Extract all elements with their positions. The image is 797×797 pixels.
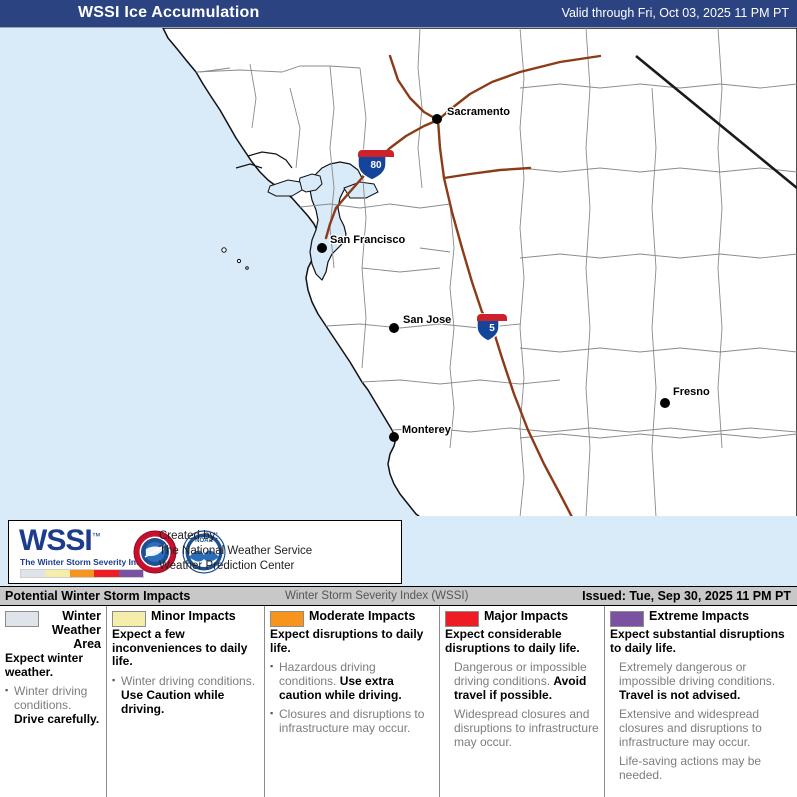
city-label-monterey: Monterey — [402, 424, 452, 436]
legend-lead-major-impacts: Expect considerable disruptions to daily… — [445, 628, 599, 655]
wssi-wordmark: WSSI™ — [19, 524, 100, 558]
map-svg: 80 5 Sacramento San Francisco San Jose M… — [0, 28, 797, 517]
legend-header-minor-impacts: Minor Impacts — [112, 609, 259, 627]
legend-title-major-impacts: Major Impacts — [484, 609, 568, 623]
wssi-wordmark-text: WSSI — [19, 524, 92, 557]
impacts-bar-title: Potential Winter Storm Impacts — [5, 589, 190, 603]
legend-lead-moderate-impacts: Expect disruptions to daily life. — [270, 628, 434, 655]
city-label-fresno: Fresno — [673, 386, 710, 398]
legend-swatch-moderate-impacts — [270, 611, 304, 627]
attribution-box: WSSI™ The Winter Storm Severity Index NO… — [8, 520, 402, 584]
wssi-swatch-0 — [21, 570, 45, 577]
wssi-trademark: ™ — [92, 531, 100, 541]
valid-through-label: Valid through Fri, Oct 03, 2025 11 PM PT — [562, 6, 789, 20]
legend-title-moderate-impacts: Moderate Impacts — [309, 609, 415, 623]
legend-item-major-impacts-0: Dangerous or impossible driving conditio… — [445, 660, 599, 702]
legend-item-moderate-impacts-1: Closures and disruptions to infrastructu… — [270, 707, 434, 735]
city-dot-sacramento — [432, 114, 442, 124]
wssi-severity-swatch-bar — [20, 569, 144, 578]
legend-column-winter-weather-area[interactable]: Winter Weather AreaExpect winter weather… — [0, 606, 107, 797]
legend-lead-winter-weather-area: Expect winter weather. — [5, 652, 101, 679]
legend-lead-extreme-impacts: Expect substantial disruptions to daily … — [610, 628, 792, 655]
legend-header-moderate-impacts: Moderate Impacts — [270, 609, 434, 627]
legend-item-winter-weather-area-0: Winter driving conditions. Drive careful… — [5, 684, 101, 726]
legend-item-emphasis: Use Caution while driving. — [121, 688, 224, 716]
city-label-san-francisco: San Francisco — [330, 234, 405, 246]
created-by-line-3: Weather Prediction Center — [159, 559, 312, 574]
legend-item-minor-impacts-0: Winter driving conditions. Use Caution w… — [112, 674, 259, 716]
legend-item-emphasis: Drive carefully. — [14, 712, 99, 726]
legend-item-emphasis: Avoid travel if possible. — [454, 674, 586, 702]
legend-swatch-winter-weather-area — [5, 611, 39, 627]
legend-column-major-impacts[interactable]: Major ImpactsExpect considerable disrupt… — [440, 606, 605, 797]
legend-column-minor-impacts[interactable]: Minor ImpactsExpect a few inconveniences… — [107, 606, 265, 797]
legend-column-extreme-impacts[interactable]: Extreme ImpactsExpect substantial disrup… — [605, 606, 797, 797]
legend-swatch-minor-impacts — [112, 611, 146, 627]
city-label-sacramento: Sacramento — [447, 106, 510, 118]
impacts-bar: Potential Winter Storm Impacts Winter St… — [0, 586, 797, 606]
legend-item-extreme-impacts-0: Extremely dangerous or impossible drivin… — [610, 660, 792, 702]
legend-header-major-impacts: Major Impacts — [445, 609, 599, 627]
wssi-swatch-3 — [94, 570, 118, 577]
legend-header-extreme-impacts: Extreme Impacts — [610, 609, 792, 627]
wssi-ice-accumulation-page: WSSI Ice Accumulation Valid through Fri,… — [0, 0, 797, 797]
city-dot-monterey — [389, 432, 399, 442]
city-label-san-jose: San Jose — [403, 314, 451, 326]
legend-item-emphasis: Travel is not advised. — [619, 688, 740, 702]
issued-label: Issued: Tue, Sep 30, 2025 11 PM PT — [582, 589, 791, 603]
legend-title-minor-impacts: Minor Impacts — [151, 609, 236, 623]
created-by-line-1: Created by: — [159, 529, 312, 544]
page-title: WSSI Ice Accumulation — [78, 4, 259, 22]
city-dot-san-francisco — [317, 243, 327, 253]
created-by-line-2: The National Weather Service — [159, 544, 312, 559]
legend-title-winter-weather-area: Winter Weather Area — [44, 609, 101, 651]
svg-text:80: 80 — [370, 160, 382, 171]
legend-swatch-major-impacts — [445, 611, 479, 627]
page-header: WSSI Ice Accumulation Valid through Fri,… — [0, 0, 797, 27]
legend-header-winter-weather-area: Winter Weather Area — [5, 609, 101, 651]
legend-title-extreme-impacts: Extreme Impacts — [649, 609, 749, 623]
legend-column-moderate-impacts[interactable]: Moderate ImpactsExpect disruptions to da… — [265, 606, 440, 797]
legend-item-major-impacts-1: Widespread closures and disruptions to i… — [445, 707, 599, 749]
wssi-tagline: The Winter Storm Severity Index — [20, 557, 151, 567]
wssi-swatch-1 — [45, 570, 69, 577]
legend-item-moderate-impacts-0: Hazardous driving conditions. Use extra … — [270, 660, 434, 702]
map-canvas[interactable]: 80 5 Sacramento San Francisco San Jose M… — [0, 27, 797, 517]
legend-item-extreme-impacts-1: Extensive and widespread closures and di… — [610, 707, 792, 749]
wssi-swatch-2 — [70, 570, 94, 577]
created-by-block: Created by: The National Weather Service… — [159, 529, 312, 574]
legend-lead-minor-impacts: Expect a few inconveniences to daily lif… — [112, 628, 259, 669]
city-dot-fresno — [660, 398, 670, 408]
legend-item-extreme-impacts-2: Life-saving actions may be needed. — [610, 754, 792, 782]
city-dot-san-jose — [389, 323, 399, 333]
logo-strip: WSSI™ The Winter Storm Severity Index NO… — [0, 516, 797, 586]
impacts-legend: Winter Weather AreaExpect winter weather… — [0, 606, 797, 797]
legend-swatch-extreme-impacts — [610, 611, 644, 627]
legend-item-emphasis: Use extra caution while driving. — [279, 674, 402, 702]
impacts-bar-subtitle: Winter Storm Severity Index (WSSI) — [285, 590, 468, 602]
svg-text:5: 5 — [489, 323, 495, 334]
